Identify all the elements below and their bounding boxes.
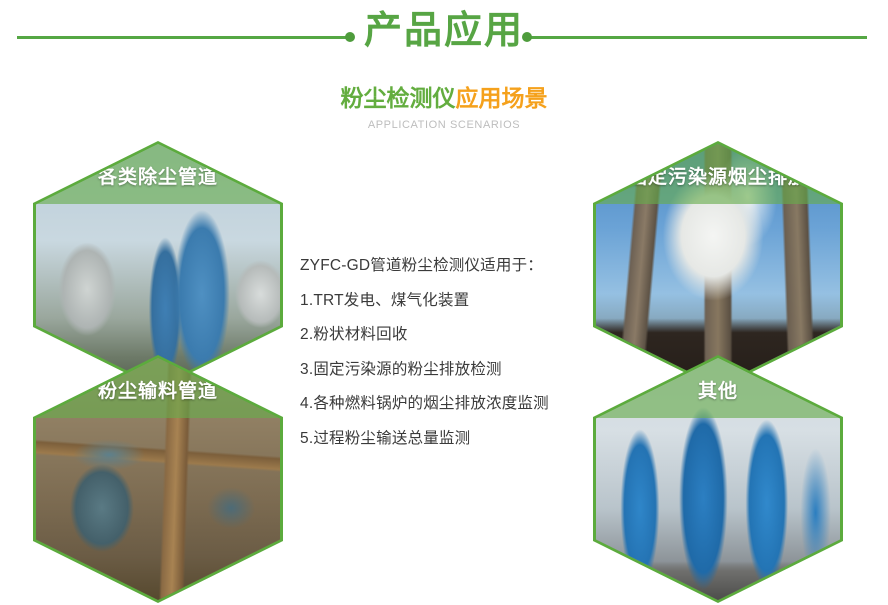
scenario-hex-top-left[interactable]: 各类除尘管道 (33, 141, 283, 389)
section-subtitle-english: APPLICATION SCENARIOS (0, 119, 888, 131)
scenario-hex-inner: 粉尘输料管道 (36, 358, 280, 600)
scenario-label-top-left: 各类除尘管道 (36, 162, 280, 189)
scenario-label-top-right: 固定污染源烟尘排放 (596, 162, 840, 189)
description-item-3: 3.固定污染源的粉尘排放检测 (300, 362, 600, 378)
scenario-hex-top-right[interactable]: 固定污染源烟尘排放 (593, 141, 843, 389)
scenario-hex-inner: 固定污染源烟尘排放 (596, 144, 840, 386)
subtitle-scenario-word: 应用场景 (456, 85, 548, 111)
page-title: 产品应用 (0, 8, 888, 56)
scenario-label-bottom-left: 粉尘输料管道 (36, 376, 280, 403)
description-item-5: 5.过程粉尘输送总量监测 (300, 431, 600, 447)
section-subtitle: 粉尘检测仪应用场景 (0, 84, 888, 114)
scenario-hex-bottom-right[interactable]: 其他 (593, 355, 843, 603)
scenario-hex-bottom-left[interactable]: 粉尘输料管道 (33, 355, 283, 603)
scenario-hex-inner: 各类除尘管道 (36, 144, 280, 386)
subtitle-product-name: 粉尘检测仪 (341, 85, 456, 111)
scenario-hex-inner: 其他 (596, 358, 840, 600)
product-application-section: 产品应用 粉尘检测仪应用场景 APPLICATION SCENARIOS 各类除… (0, 0, 888, 605)
application-description: ZYFC-GD管道粉尘检测仪适用于： 1.TRT发电、煤气化装置 2.粉状材料回… (300, 258, 600, 446)
description-item-2: 2.粉状材料回收 (300, 327, 600, 343)
description-intro: ZYFC-GD管道粉尘检测仪适用于： (300, 258, 600, 274)
description-item-1: 1.TRT发电、煤气化装置 (300, 293, 600, 309)
scenario-label-bottom-right: 其他 (596, 376, 840, 403)
description-item-4: 4.各种燃料锅炉的烟尘排放浓度监测 (300, 396, 600, 412)
